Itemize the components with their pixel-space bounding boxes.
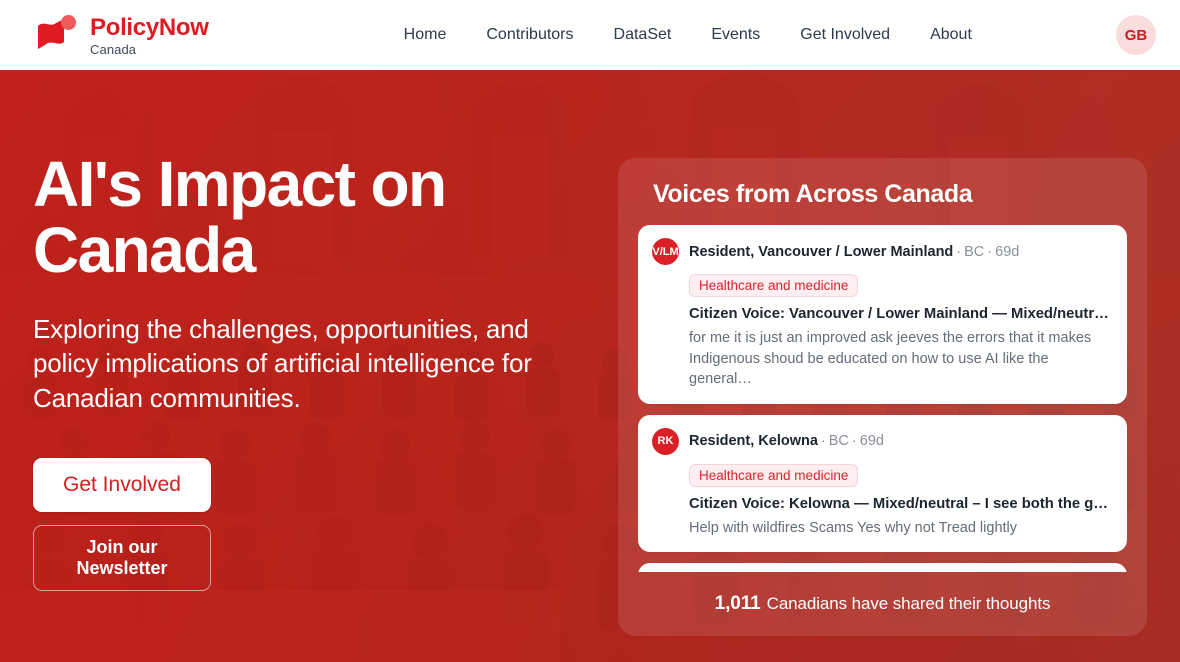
hero-content: AI's Impact on Canada Exploring the chal… (33, 70, 618, 662)
main-navigation: Home Contributors DataSet Events Get Inv… (404, 26, 972, 44)
voice-topic-tag[interactable]: Healthcare and medicine (689, 464, 858, 487)
voice-meta: Resident, Vancouver / Lower Mainland·BC·… (689, 244, 1019, 260)
voice-author: Resident, Vancouver / Lower Mainland (689, 244, 953, 260)
voice-card[interactable]: RK Resident, Kelowna·BC·69d Healthcare a… (638, 415, 1127, 553)
hero-actions: Get Involved Join our Newsletter (33, 458, 618, 591)
nav-item-about[interactable]: About (930, 26, 972, 44)
voice-topic-tag[interactable]: Healthcare and medicine (689, 274, 858, 297)
voice-avatar: V/LM (652, 238, 679, 265)
voice-headline: Citizen Voice: Kelowna — Mixed/neutral –… (689, 496, 1111, 512)
join-newsletter-button[interactable]: Join our Newsletter (33, 525, 211, 591)
voice-meta: Resident, Kelowna·BC·69d (689, 433, 884, 449)
voices-count: 1,011 (715, 593, 761, 615)
brand-subtitle: Canada (90, 43, 209, 56)
voices-footer: 1,011 Canadians have shared their though… (638, 572, 1127, 636)
voice-province: BC (829, 433, 849, 449)
voice-headline: Citizen Voice: Vancouver / Lower Mainlan… (689, 306, 1111, 322)
nav-item-contributors[interactable]: Contributors (486, 26, 573, 44)
voices-list[interactable]: V/LM Resident, Vancouver / Lower Mainlan… (638, 225, 1127, 572)
voice-age: 69d (860, 433, 884, 449)
hero-title: AI's Impact on Canada (33, 152, 553, 284)
user-avatar[interactable]: GB (1116, 15, 1156, 55)
hero-subtitle: Exploring the challenges, opportunities,… (33, 312, 549, 416)
voice-snippet: Help with wildfires Scams Yes why not Tr… (689, 518, 1111, 539)
brand-name: PolicyNow (90, 16, 209, 40)
voice-snippet: for me it is just an improved ask jeeves… (689, 328, 1111, 390)
hero-section: AI's Impact on Canada Exploring the chal… (0, 70, 1180, 662)
voices-panel: Voices from Across Canada V/LM Resident,… (618, 158, 1147, 636)
voice-author: Resident, Kelowna (689, 433, 818, 449)
nav-item-dataset[interactable]: DataSet (614, 26, 672, 44)
voice-card[interactable]: V/LM Resident, Vancouver / Lower Mainlan… (638, 225, 1127, 404)
nav-item-home[interactable]: Home (404, 26, 447, 44)
brand-logo[interactable]: PolicyNow Canada (34, 14, 209, 56)
policynow-flag-icon (34, 14, 80, 56)
voice-avatar: RK (652, 428, 679, 455)
voice-age: 69d (995, 244, 1019, 260)
voices-panel-title: Voices from Across Canada (638, 180, 1127, 209)
voice-card[interactable]: RV Resident, Victoria·BC·69d Not sure Ci… (638, 563, 1127, 572)
get-involved-button[interactable]: Get Involved (33, 458, 211, 512)
site-header: PolicyNow Canada Home Contributors DataS… (0, 0, 1180, 70)
nav-item-get-involved[interactable]: Get Involved (800, 26, 890, 44)
voices-footer-text: Canadians have shared their thoughts (767, 594, 1051, 614)
nav-item-events[interactable]: Events (711, 26, 760, 44)
voice-province: BC (964, 244, 984, 260)
